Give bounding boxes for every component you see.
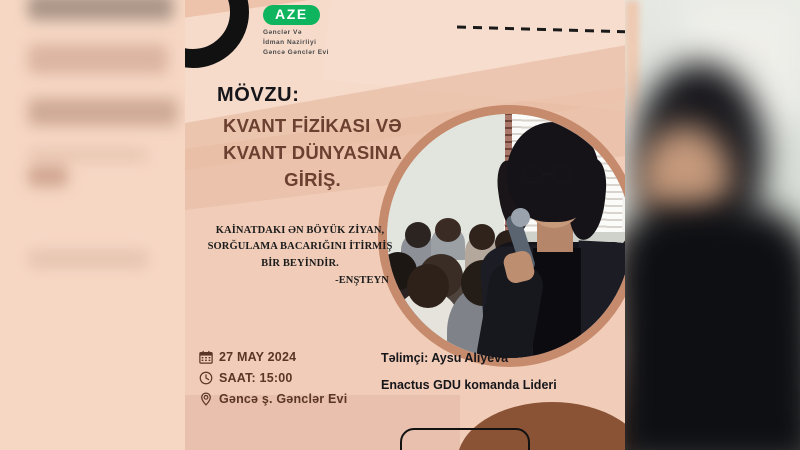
event-time: SAAT: 15:00 (219, 371, 293, 385)
event-date: 27 MAY 2024 (219, 350, 296, 364)
speaker-shirt (533, 248, 581, 367)
event-location: Gəncə ş. Gənclər Evi (219, 392, 347, 406)
headline-block: MÖVZU: KVANT FİZİKASI VƏ KVANT DÜNYASINA… (185, 84, 440, 191)
quote-block: KAİNATDAKI ƏN BÖYÜK ZİYAN, SORĞULAMA BAC… (189, 223, 411, 289)
audience-head (435, 218, 461, 242)
topic-label: MÖVZU: (185, 84, 440, 107)
calendar-icon (199, 350, 213, 364)
title-line-1: KVANT FİZİKASI VƏ (185, 114, 440, 137)
blur-shape (28, 150, 148, 160)
quote-line-3: BİR BEYİNDİR. (261, 258, 339, 269)
clock-icon (199, 371, 213, 385)
ministry-line-1: Gənclər Və (263, 28, 433, 38)
ministry-line-2: İdman Nazirliyi (263, 38, 433, 48)
rounded-outline-shape (400, 428, 530, 450)
blur-shape (28, 44, 168, 74)
audience-head (407, 264, 449, 308)
speaker-name: Təlimçi: Aysu Aliyeva (381, 352, 621, 366)
blurred-left-backdrop (0, 0, 185, 450)
blur-shape (28, 98, 178, 126)
lens-right (551, 166, 571, 183)
event-poster: AZE Gənclər Və İdman Nazirliyi Gəncə Gən… (185, 0, 625, 450)
blur-shape (28, 0, 173, 20)
title-line-3: GİRİŞ. (185, 168, 440, 191)
aze-badge: AZE (263, 5, 320, 25)
title-line-2: KVANT DÜNYASINA (185, 141, 440, 164)
lens-left (522, 166, 542, 183)
quote-line-2: SORĞULAMA BACARIĞINI İTİRMİŞ (208, 241, 393, 252)
audience-head (469, 224, 495, 250)
ministry-name: Gənclər Və İdman Nazirliyi Gəncə Gənclər… (263, 28, 433, 58)
detail-row-location: Gəncə ş. Gənclər Evi (199, 392, 429, 406)
ministry-logo: AZE Gənclər Və İdman Nazirliyi Gəncə Gən… (263, 5, 433, 58)
blurred-right-backdrop (625, 0, 800, 450)
blur-shape (28, 250, 148, 268)
quote-attribution: -ENŞTEYN (189, 273, 411, 289)
speaker-role: Enactus GDU komanda Lideri (381, 379, 621, 393)
blur-shape (625, 205, 800, 450)
eyeglasses-icon (522, 166, 584, 183)
ministry-line-3: Gəncə Gənclər Evi (263, 48, 433, 58)
speaker-caption: Təlimçi: Aysu Aliyeva Enactus GDU komand… (381, 352, 621, 393)
blur-shape (28, 165, 68, 187)
location-pin-icon (199, 392, 213, 406)
glasses-bridge (542, 173, 551, 175)
poster-viewer: AZE Gənclər Və İdman Nazirliyi Gəncə Gən… (0, 0, 800, 450)
quote-line-1: KAİNATDAKI ƏN BÖYÜK ZİYAN, (216, 225, 384, 236)
